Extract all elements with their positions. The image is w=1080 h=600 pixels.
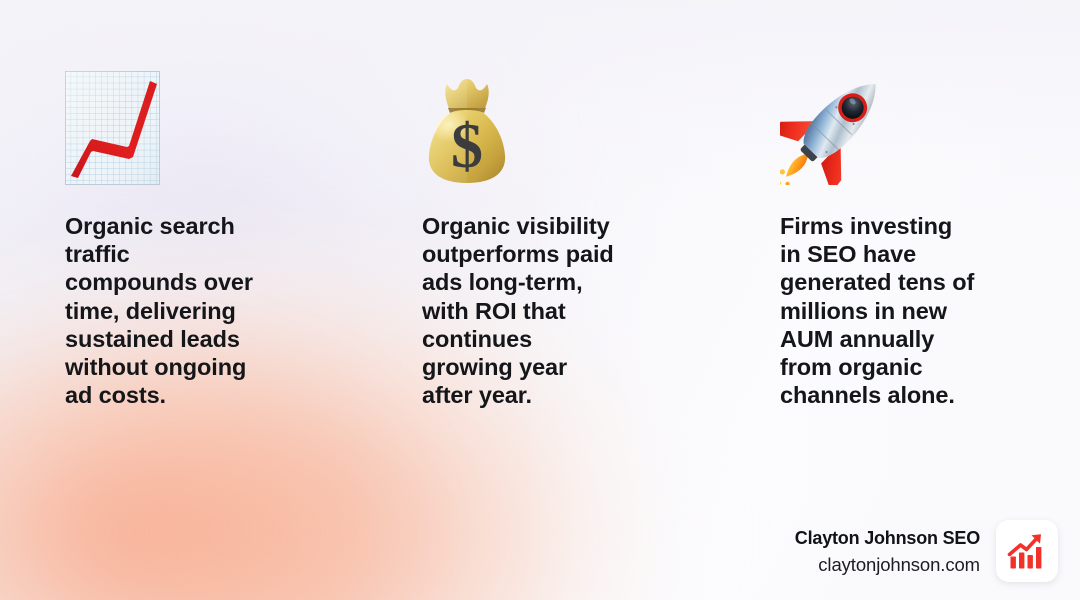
benefit-text-3: Firms investing in SEO have generated te… (780, 212, 1070, 409)
footer-branding: Clayton Johnson SEO claytonjohnson.com (795, 520, 1058, 582)
rocket-emoji (780, 65, 892, 185)
benefit-text-2: Organic visibility outperforms paid ads … (422, 212, 722, 409)
chart-increasing-icon (65, 55, 365, 185)
graphic-canvas: Organic search traffic compounds over ti… (0, 0, 1080, 600)
brand-name: Clayton Johnson SEO (795, 527, 980, 549)
rocket-icon (780, 55, 1070, 185)
benefit-columns: Organic search traffic compounds over ti… (0, 0, 1080, 600)
money-bag-icon: $ (422, 55, 722, 185)
benefit-column-2: $ Organic visibility outperforms paid ad… (422, 55, 722, 409)
benefit-column-1: Organic search traffic compounds over ti… (65, 55, 365, 409)
money-bag-emoji: $ (422, 75, 512, 185)
svg-text:$: $ (451, 110, 483, 181)
benefit-column-3: Firms investing in SEO have generated te… (780, 55, 1070, 409)
footer-text-block: Clayton Johnson SEO claytonjohnson.com (795, 527, 980, 576)
benefit-text-1: Organic search traffic compounds over ti… (65, 212, 365, 409)
growth-chart-logo-icon (1007, 531, 1047, 571)
brand-logo-tile (996, 520, 1058, 582)
brand-url[interactable]: claytonjohnson.com (795, 554, 980, 576)
chart-increasing-emoji (65, 71, 160, 185)
